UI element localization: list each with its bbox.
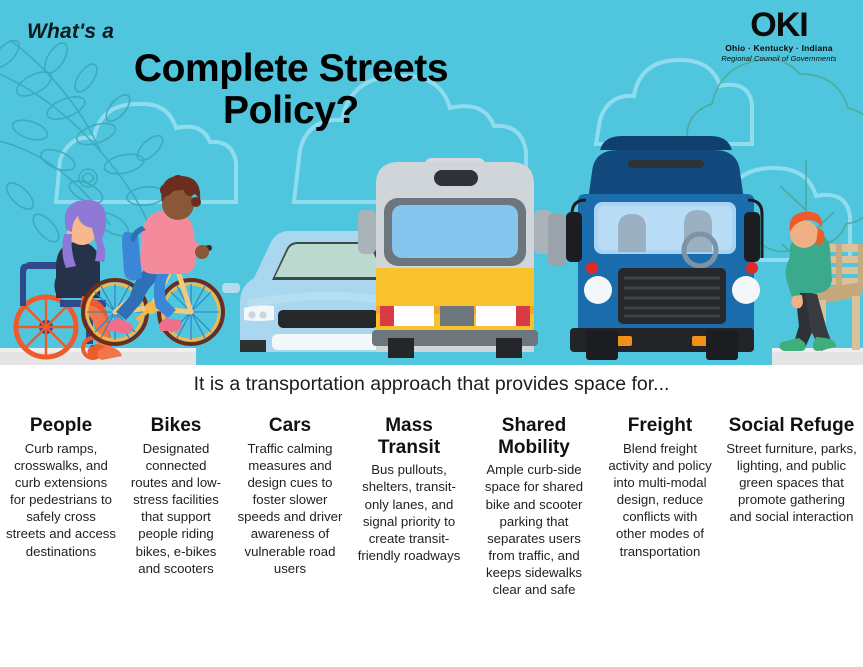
subtitle-text: It is a transportation approach that pro… [0,373,863,396]
column-heading: People [6,415,116,437]
page-title: Complete Streets Policy? [56,48,526,132]
column-heading: Shared Mobility [474,415,594,458]
bus-illustration [358,158,552,358]
column-people: People Curb ramps, crosswalks, and curb … [0,415,122,560]
column-body: Designated connected routes and low-stre… [128,440,224,577]
column-shared-mobility: Shared Mobility Ample curb-side space fo… [468,415,600,599]
column-social-refuge: Social Refuge Street furniture, parks, l… [720,415,863,525]
column-body: Ample curb-side space for shared bike an… [474,461,594,598]
logo-tagline: Regional Council of Governments [709,54,849,63]
logo-wordmark: OKI [709,8,849,42]
column-body: Traffic calming measures and design cues… [236,440,344,577]
column-body: Blend freight activity and policy into m… [606,440,714,560]
oki-logo: OKI Ohio · Kentucky · Indiana Regional C… [709,8,849,70]
logo-states: Ohio · Kentucky · Indiana [709,43,849,53]
content-section: It is a transportation approach that pro… [0,365,863,667]
column-bikes: Bikes Designated connected routes and lo… [122,415,230,577]
sidewalk-right [772,350,863,365]
column-body: Bus pullouts, shelters, transit-only lan… [356,461,462,564]
column-mass-transit: Mass Transit Bus pullouts, shelters, tra… [350,415,468,564]
kicker-text: What's a [27,20,114,44]
column-cars: Cars Traffic calming measures and design… [230,415,350,577]
title-line-2: Policy? [56,90,526,132]
column-heading: Mass Transit [356,415,462,458]
column-heading: Cars [236,415,344,437]
column-heading: Social Refuge [726,415,857,437]
column-freight: Freight Blend freight activity and polic… [600,415,720,560]
infographic-page: What's a Complete Streets Policy? OKI Oh… [0,0,863,667]
title-line-1: Complete Streets [134,47,448,90]
column-heading: Freight [606,415,714,437]
column-heading: Bikes [128,415,224,437]
mode-columns: People Curb ramps, crosswalks, and curb … [0,415,863,599]
column-body: Curb ramps, crosswalks, and curb extensi… [6,440,116,560]
column-body: Street furniture, parks, lighting, and p… [726,440,857,526]
hero-illustration-banner: What's a Complete Streets Policy? OKI Oh… [0,0,863,365]
